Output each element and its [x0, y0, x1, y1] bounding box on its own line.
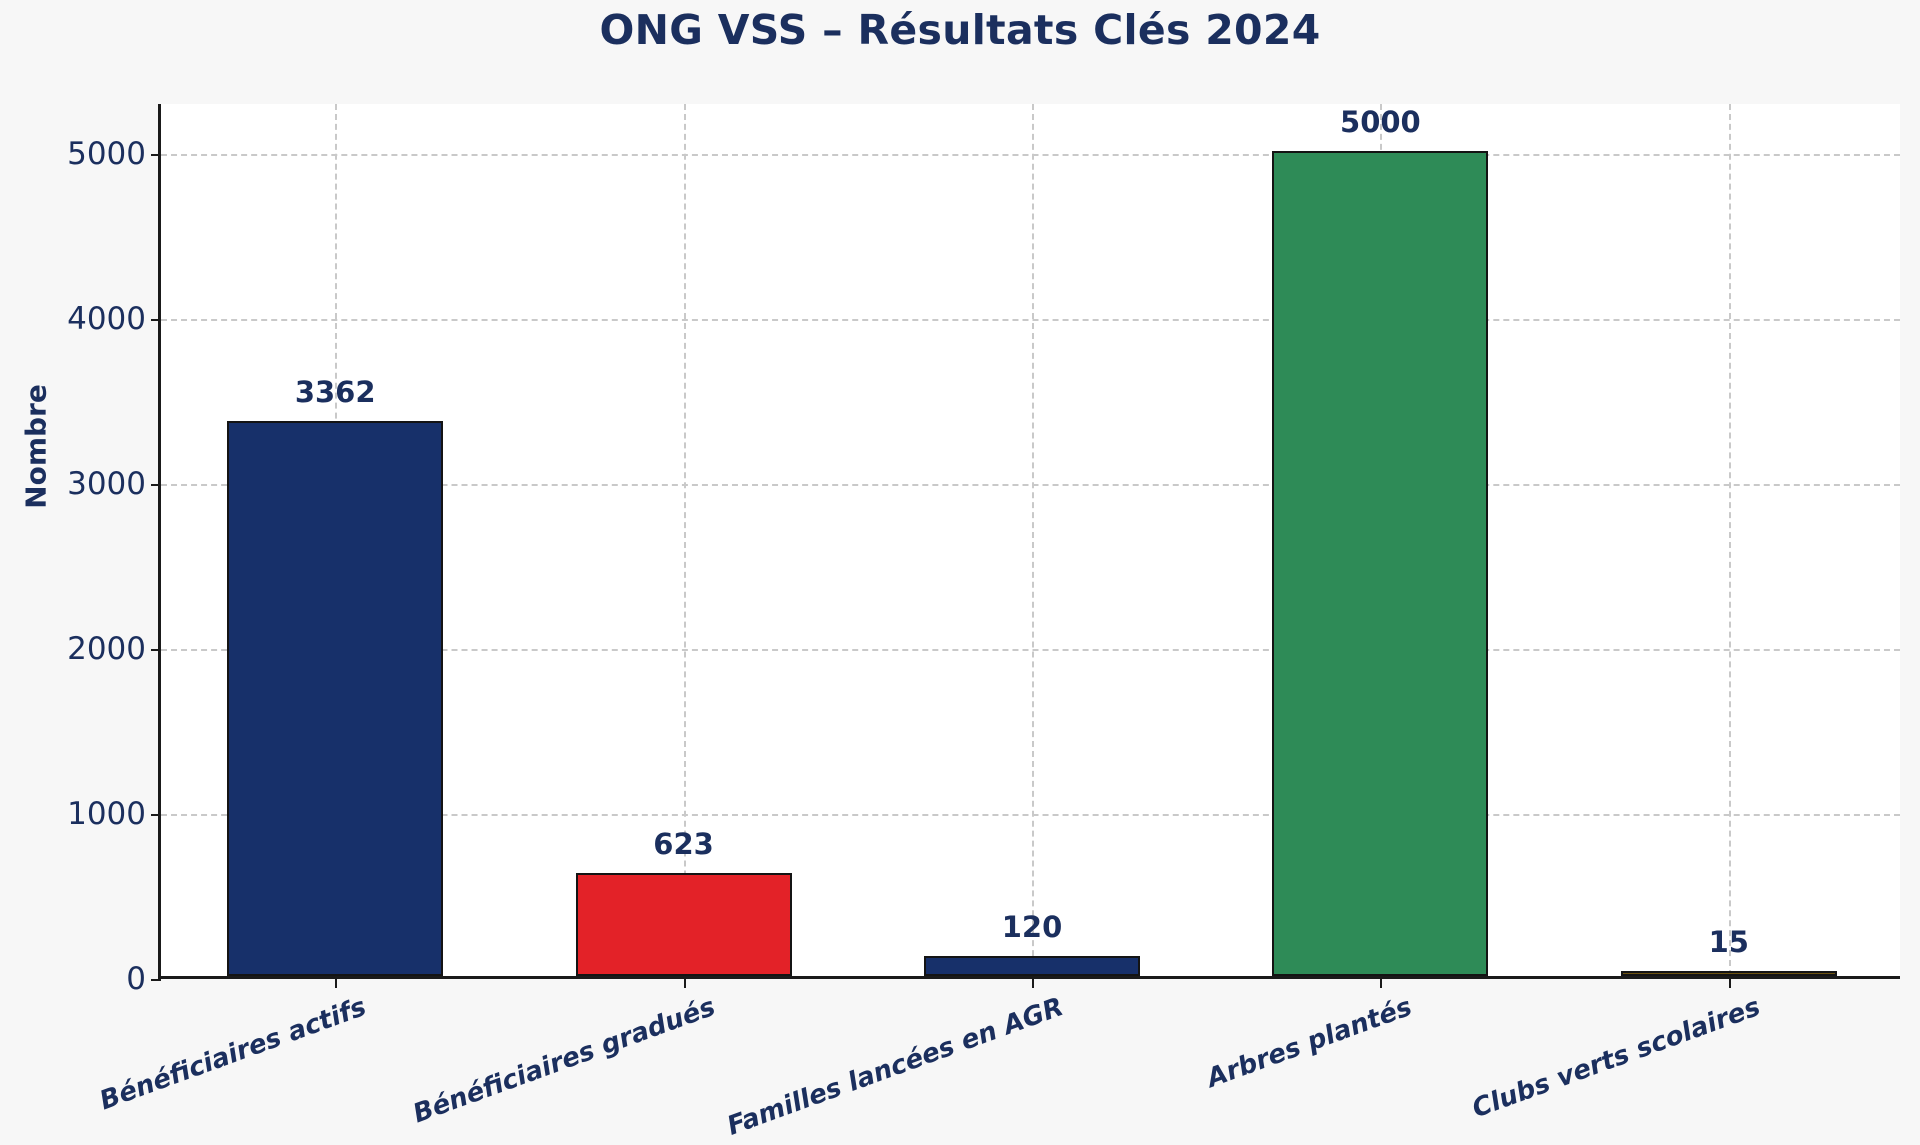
y-tick-mark — [151, 154, 161, 156]
y-tick-label: 3000 — [6, 466, 146, 502]
bar-value-label: 15 — [1709, 925, 1749, 959]
y-tick-mark — [151, 319, 161, 321]
x-tick-label: Bénéficiaires actifs — [96, 992, 370, 1116]
x-tick-label: Arbres plantés — [1203, 992, 1416, 1094]
y-tick-label: 1000 — [6, 796, 146, 832]
x-tick-mark — [1380, 979, 1382, 988]
x-tick-label: Bénéficiaires gradués — [409, 992, 719, 1129]
x-tick-label: Clubs verts scolaires — [1468, 992, 1764, 1124]
y-tick-mark — [151, 484, 161, 486]
x-tick-mark — [1032, 979, 1034, 988]
y-tick-label: 0 — [6, 961, 146, 997]
y-tick-label: 4000 — [6, 301, 146, 337]
bar[interactable] — [576, 873, 792, 976]
chart-figure: ONG VSS – Résultats Clés 2024 Nombre 010… — [0, 0, 1920, 1145]
bar-value-label: 5000 — [1340, 105, 1421, 139]
bar-slot: 5000 — [1206, 104, 1554, 976]
chart-title: ONG VSS – Résultats Clés 2024 — [0, 6, 1920, 54]
bar[interactable] — [924, 956, 1140, 976]
bar-value-label: 120 — [1002, 910, 1063, 944]
bar[interactable] — [227, 421, 443, 976]
y-tick-mark — [151, 814, 161, 816]
bar-slot: 120 — [858, 104, 1206, 976]
y-tick-mark — [151, 649, 161, 651]
x-tick-mark — [1729, 979, 1731, 988]
bar[interactable] — [1272, 151, 1488, 976]
bar-slot: 3362 — [161, 104, 509, 976]
bar-value-label: 3362 — [295, 375, 376, 409]
bar-slot: 623 — [509, 104, 857, 976]
y-axis-title: Nombre — [20, 367, 53, 527]
x-tick-mark — [335, 979, 337, 988]
y-tick-label: 5000 — [6, 136, 146, 172]
y-tick-label: 2000 — [6, 631, 146, 667]
y-tick-mark — [151, 979, 161, 981]
bar-value-label: 623 — [653, 827, 714, 861]
x-tick-mark — [684, 979, 686, 988]
plot-area: 3362623120500015 — [158, 104, 1900, 979]
bar[interactable] — [1621, 971, 1837, 976]
bar-slot: 15 — [1555, 104, 1903, 976]
x-tick-label: Familles lancées en AGR — [723, 992, 1067, 1142]
